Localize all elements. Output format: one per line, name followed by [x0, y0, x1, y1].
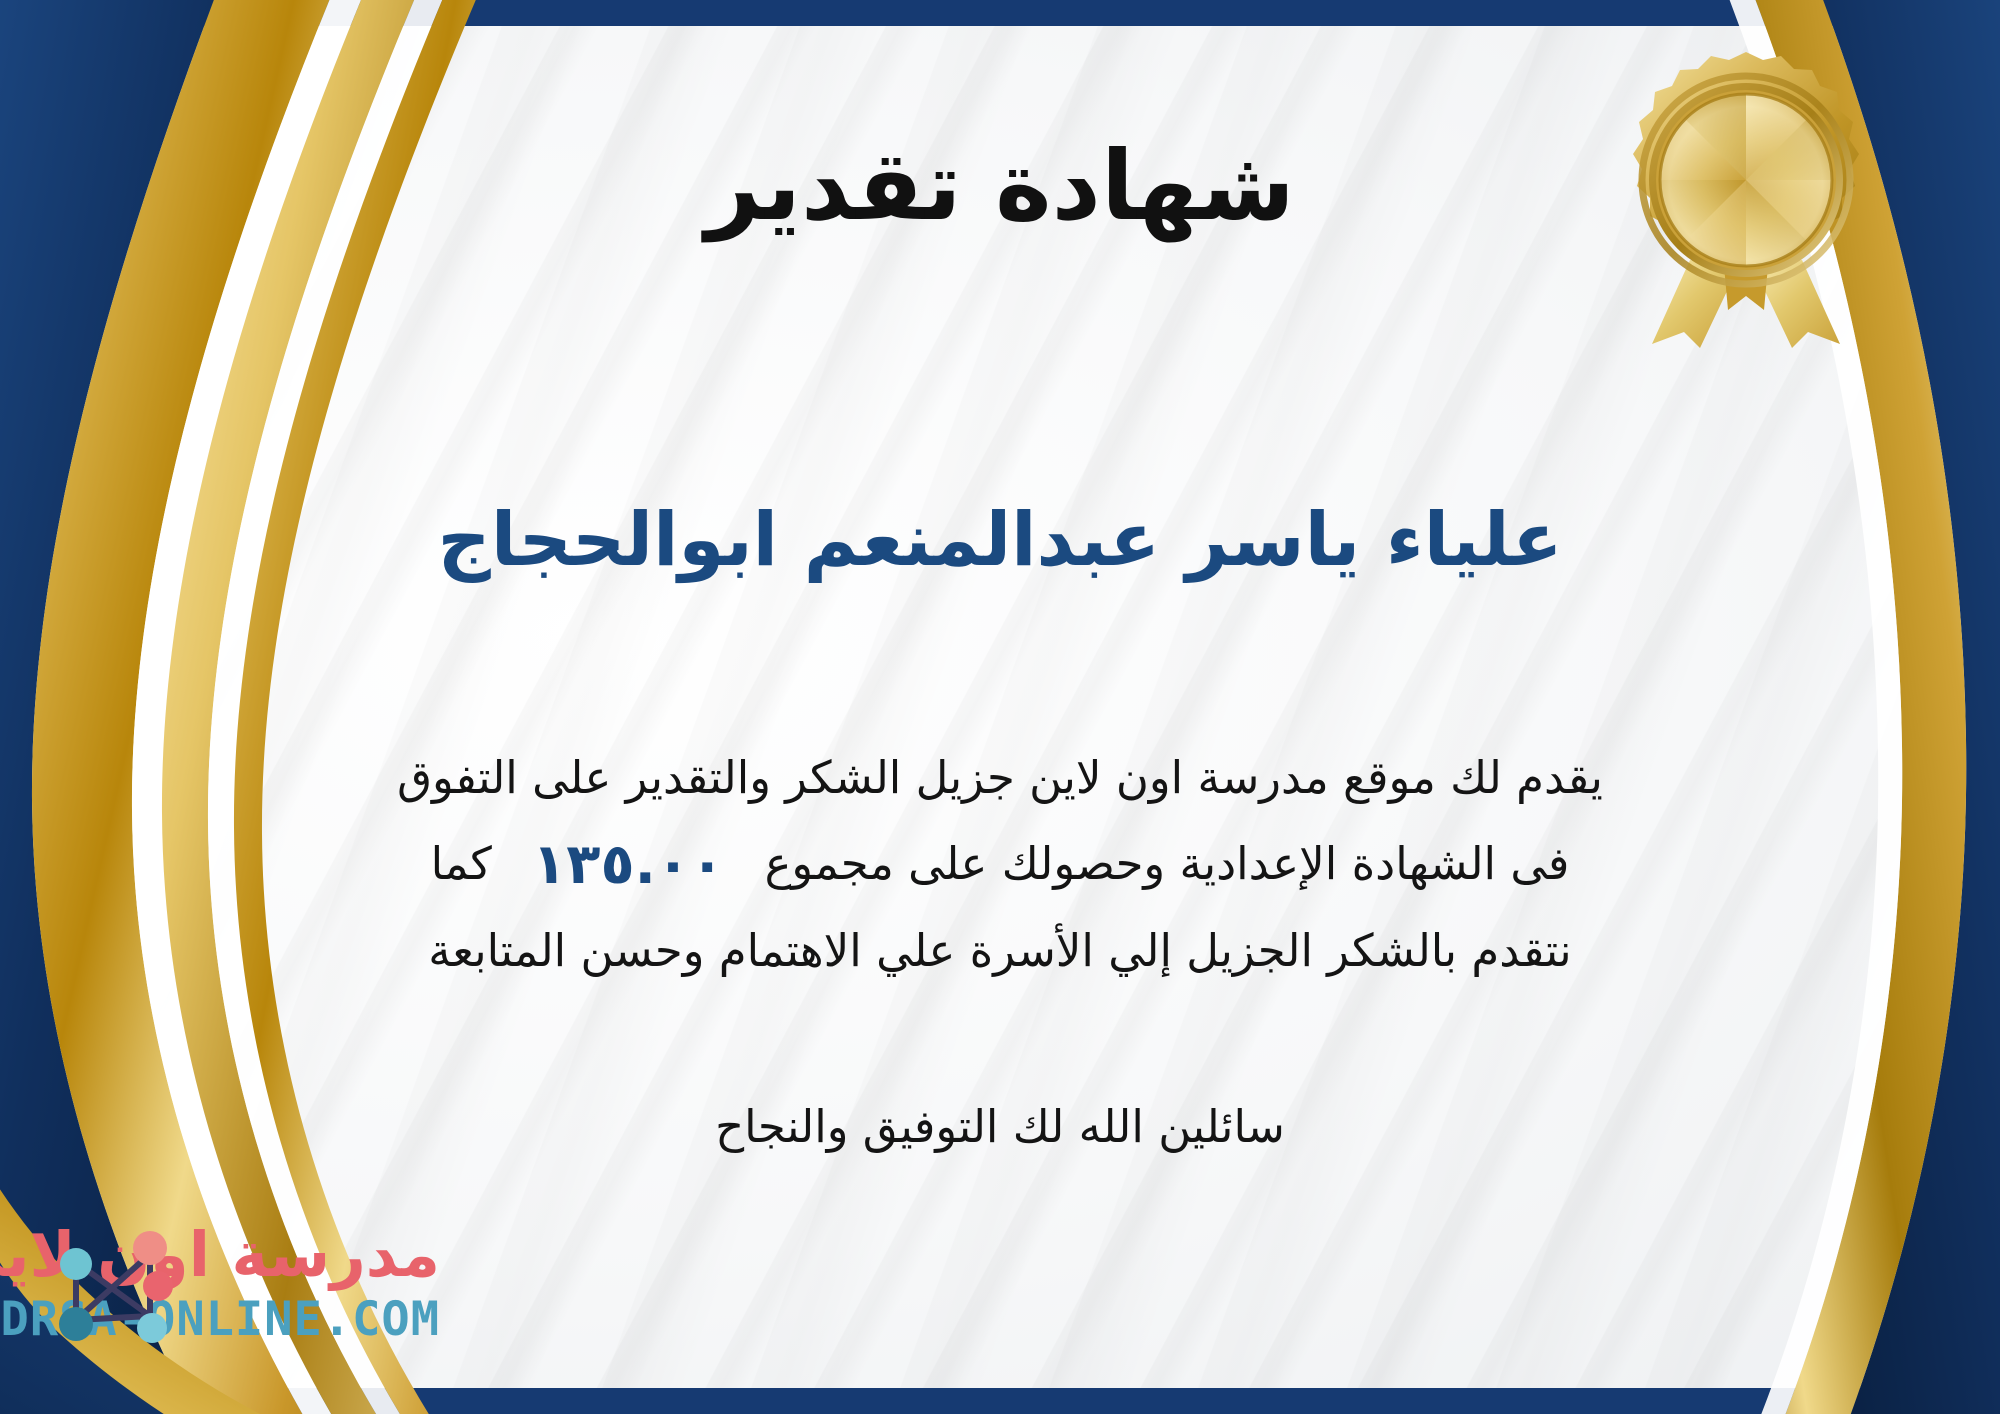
certificate-body-text: يقدم لك موقع مدرسة اون لاين جزيل الشكر و…: [60, 735, 1940, 994]
body-line-2-prefix: فى الشهادة الإعدادية وحصولك على مجموع: [765, 837, 1570, 890]
body-line-1: يقدم لك موقع مدرسة اون لاين جزيل الشكر و…: [60, 735, 1940, 821]
body-line-2-suffix: كما: [431, 837, 492, 890]
brand-logo[interactable]: مدرسة اون لاين MADRSA-ONLINE.COM: [40, 1218, 600, 1368]
total-score-value: ١٣٥.٠٠: [506, 822, 750, 908]
body-line-2: فى الشهادة الإعدادية وحصولك على مجموع ١٣…: [60, 821, 1940, 908]
certificate-page: شهادة تقدير علياء ياسر عبدالمنعم ابوالحج…: [0, 0, 2000, 1414]
body-line-3: نتقدم بالشكر الجزيل إلي الأسرة علي الاهت…: [60, 908, 1940, 994]
closing-wish-text: سائلين الله لك التوفيق والنجاح: [0, 1100, 2000, 1153]
network-nodes-icon: [46, 1224, 186, 1360]
recipient-name: علياء ياسر عبدالمنعم ابوالحجاج: [0, 497, 2000, 583]
certificate-title: شهادة تقدير: [0, 130, 2000, 242]
